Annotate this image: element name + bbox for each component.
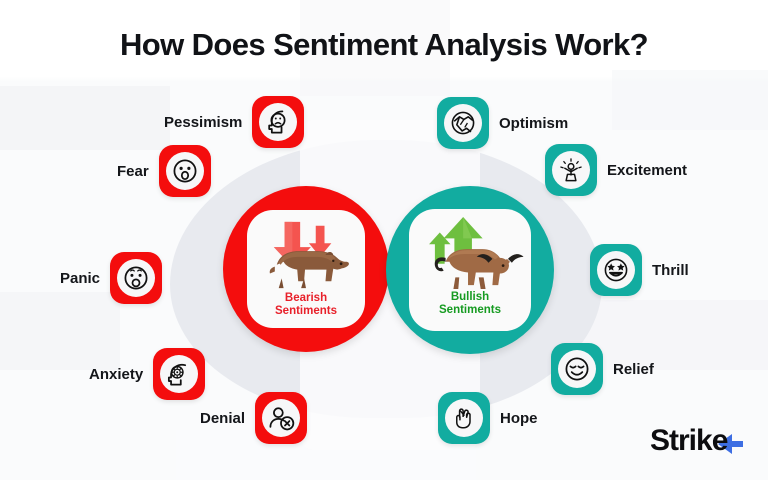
sentiment-label-excitement: Excitement xyxy=(607,162,687,179)
sentiment-node-panic[interactable]: Panic xyxy=(60,252,162,304)
background-panel xyxy=(0,86,170,150)
bull-with-up-arrows-icon xyxy=(409,215,531,291)
sentiment-node-thrill[interactable]: Thrill xyxy=(590,244,689,296)
bear-with-down-arrows-icon xyxy=(247,216,365,292)
sentiment-node-anxiety[interactable]: Anxiety xyxy=(89,348,205,400)
sentiment-badge-pessimism[interactable] xyxy=(252,96,304,148)
bearish-inner-card: Bearish Sentiments xyxy=(247,210,365,328)
sentiment-label-relief: Relief xyxy=(613,361,654,378)
bearish-sentiments-circle[interactable]: Bearish Sentiments xyxy=(223,186,389,352)
person-x-icon xyxy=(262,399,300,437)
bullish-label: Bullish Sentiments xyxy=(439,291,501,317)
sentiment-node-excitement[interactable]: Excitement xyxy=(545,144,687,196)
star-struck-face-icon xyxy=(597,251,635,289)
sentiment-badge-thrill[interactable] xyxy=(590,244,642,296)
sentiment-label-hope: Hope xyxy=(500,410,538,427)
fearful-face-icon xyxy=(166,152,204,190)
sentiment-badge-relief[interactable] xyxy=(551,343,603,395)
sentiment-label-thrill: Thrill xyxy=(652,262,689,279)
sentiment-node-relief[interactable]: Relief xyxy=(551,343,654,395)
handshake-icon xyxy=(444,104,482,142)
sentiment-badge-fear[interactable] xyxy=(159,145,211,197)
sentiment-label-anxiety: Anxiety xyxy=(89,366,143,383)
head-sad-face-icon xyxy=(259,103,297,141)
sentiment-badge-panic[interactable] xyxy=(110,252,162,304)
sentiment-node-pessimism[interactable]: Pessimism xyxy=(164,96,304,148)
sentiment-badge-optimism[interactable] xyxy=(437,97,489,149)
sentiment-badge-hope[interactable] xyxy=(438,392,490,444)
sentiment-label-denial: Denial xyxy=(200,410,245,427)
sentiment-node-fear[interactable]: Fear xyxy=(117,145,211,197)
head-gear-swirl-icon xyxy=(160,355,198,393)
sentiment-label-pessimism: Pessimism xyxy=(164,114,242,131)
strike-logo[interactable]: Strike xyxy=(650,424,727,458)
crossed-fingers-icon xyxy=(445,399,483,437)
sentiment-badge-anxiety[interactable] xyxy=(153,348,205,400)
infographic-canvas: How Does Sentiment Analysis Work? xyxy=(0,0,768,480)
bearish-label: Bearish Sentiments xyxy=(275,292,337,318)
relieved-smiling-face-icon xyxy=(558,350,596,388)
page-title: How Does Sentiment Analysis Work? xyxy=(0,27,768,63)
sentiment-badge-denial[interactable] xyxy=(255,392,307,444)
sentiment-label-optimism: Optimism xyxy=(499,115,568,132)
sentiment-label-fear: Fear xyxy=(117,163,149,180)
celebrating-person-icon xyxy=(552,151,590,189)
sentiment-node-optimism[interactable]: Optimism xyxy=(437,97,568,149)
shocked-face-icon xyxy=(117,259,155,297)
sentiment-label-panic: Panic xyxy=(60,270,100,287)
background-panel xyxy=(612,70,768,130)
sentiment-badge-excitement[interactable] xyxy=(545,144,597,196)
bullish-sentiments-circle[interactable]: Bullish Sentiments xyxy=(386,186,554,354)
bullish-inner-card: Bullish Sentiments xyxy=(409,209,531,331)
sentiment-node-hope[interactable]: Hope xyxy=(438,392,538,444)
sentiment-node-denial[interactable]: Denial xyxy=(200,392,307,444)
strike-logo-text: Strike xyxy=(650,424,727,458)
